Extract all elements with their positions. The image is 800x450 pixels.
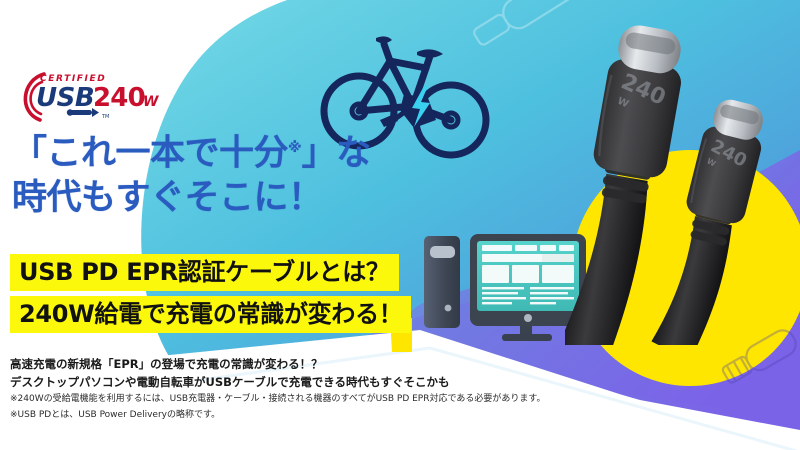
logo-watts-number: 240 [93, 83, 145, 113]
headline-line-1-main: 「これ一本で十分 [12, 134, 288, 174]
logo-usb-text: USB [36, 83, 94, 113]
headline-line-2: 時代もすぐそこに！ [12, 176, 442, 220]
certified-usb-240w-logo: CERTIFIED USB 240 W TM [14, 68, 174, 124]
body-lead-line-1: 高速充電の新規格「EPR」の登場で充電の常識が変わる！？ [10, 355, 610, 373]
promo-banner: 240 W 240 W [0, 0, 800, 450]
headline-asterisk: ※ [288, 140, 302, 156]
headline: 「これ一本で十分※」な 時代もすぐそこに！ [12, 126, 442, 220]
headline-line-1-tail: 」な [302, 134, 371, 174]
headline-line-1: 「これ一本で十分※」な [12, 126, 442, 176]
highlight-bar-1-text: USB PD EPR認証ケーブルとは？ [19, 258, 390, 286]
highlight-bar-2-text: 240W給電で充電の常識が変わる！ [19, 300, 402, 328]
logo-trademark: TM [101, 114, 109, 120]
logo-watts-unit: W [143, 94, 159, 110]
body-lead-line-2: デスクトップパソコンや電動自転車がUSBケーブルで充電できる時代もすぐそこかも [10, 373, 610, 391]
body-copy: 高速充電の新規格「EPR」の登場で充電の常識が変わる！？ デスクトップパソコンや… [10, 355, 610, 423]
highlight-bar-2: 240W給電で充電の常識が変わる！ [10, 296, 411, 333]
body-note-1: ※240Wの受給電機能を利用するには、USB充電器・ケーブル・接続される機器のす… [10, 391, 610, 407]
body-note-2: ※USB PDとは、USB Power Deliveryの略称です。 [10, 407, 610, 423]
highlight-bar-1: USB PD EPR認証ケーブルとは？ [10, 254, 399, 291]
usb-c-cable-photo: 240 W 240 W [565, 0, 800, 345]
desktop-computer-illustration [424, 234, 586, 341]
